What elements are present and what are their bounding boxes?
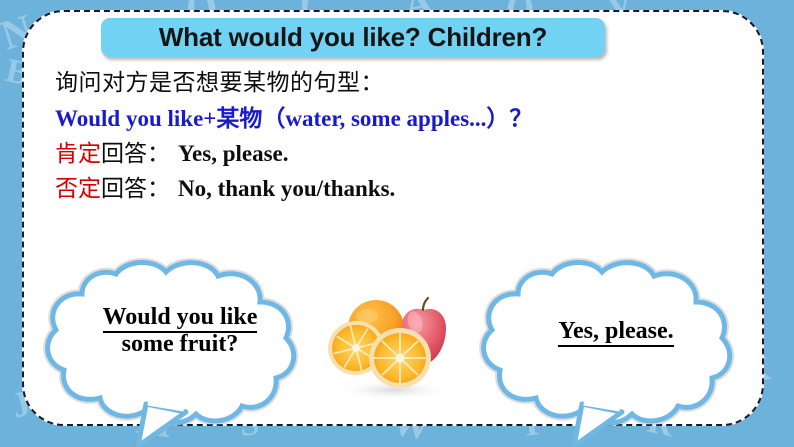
page-title: What would you like? Children? xyxy=(159,22,547,53)
speech-bubble-question: Would you like some fruit? xyxy=(30,258,330,444)
speech-bubble-answer-text: Yes, please. xyxy=(500,318,732,345)
pattern-examples: water, some apples... xyxy=(285,106,486,131)
intro-line: 询问对方是否想要某物的句型： xyxy=(55,72,715,95)
pattern-english-prefix: Would you like+ xyxy=(55,106,216,131)
speech-bubble-question-text: Would you like some fruit? xyxy=(64,304,296,358)
sentence-pattern-line: Would you like+某物（water, some apples...）… xyxy=(55,107,715,131)
speech-bubble-answer: Yes, please. xyxy=(466,258,766,444)
speech-bubble-answer-shape xyxy=(466,258,766,444)
orange-half-front xyxy=(369,328,431,388)
pattern-cjk-close: ）？ xyxy=(486,106,532,132)
negative-label-red: 否定 xyxy=(55,176,101,202)
question-line-2: some fruit? xyxy=(64,331,296,358)
affirmative-answer-english: Yes, please. xyxy=(178,141,289,166)
negative-answer-line: 否定回答：No, thank you/thanks. xyxy=(55,177,715,201)
title-banner: What would you like? Children? xyxy=(101,18,605,57)
affirmative-label-black: 回答： xyxy=(101,141,170,167)
pattern-cjk-object: 某物（ xyxy=(216,106,285,132)
lesson-text-block: 询问对方是否想要某物的句型： Would you like+某物（water, … xyxy=(55,72,715,212)
affirmative-label-red: 肯定 xyxy=(55,141,101,167)
negative-answer-english: No, thank you/thanks. xyxy=(178,176,395,201)
negative-label-black: 回答： xyxy=(101,176,170,202)
answer-line-1: Yes, please. xyxy=(558,318,673,347)
question-line-1: Would you like xyxy=(103,304,258,333)
affirmative-answer-line: 肯定回答：Yes, please. xyxy=(55,142,715,166)
fruit-photo xyxy=(318,286,468,404)
slide-canvas: NBOCAQVGJMSWTRK What would you like? Chi… xyxy=(0,0,794,447)
